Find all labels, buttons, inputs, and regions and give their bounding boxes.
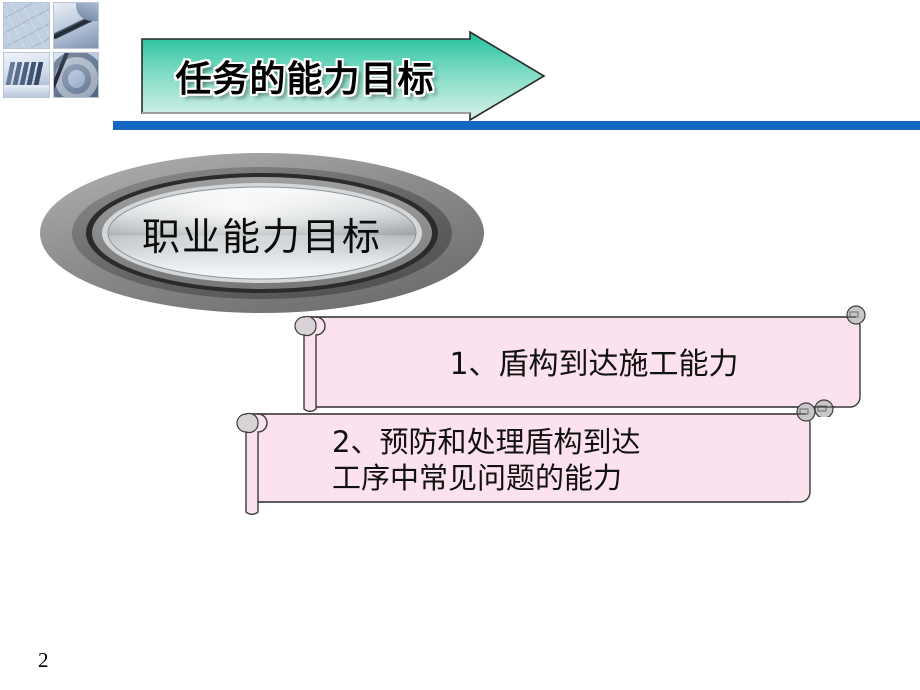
photo-bar-chart-printout	[3, 52, 50, 99]
page-number: 2	[38, 648, 49, 673]
header-divider-rule	[113, 121, 920, 130]
arrow-shape-icon	[140, 31, 546, 121]
title-arrow-banner: 任务的能力目标	[140, 31, 546, 121]
slide-canvas: 任务的能力目标	[0, 0, 920, 690]
photo-compass-drawing	[53, 52, 100, 99]
photo-collage	[3, 2, 99, 98]
photo-pen-document	[53, 2, 100, 49]
callout-box-2: 2、预防和处理盾构到达 工序中常见问题的能力	[232, 400, 822, 520]
objective-oval-badge: 职业能力目标	[38, 150, 486, 316]
photo-caliper-blueprint	[3, 2, 50, 49]
oval-rings-icon	[38, 150, 486, 316]
scroll-shape-2-icon	[232, 400, 822, 520]
